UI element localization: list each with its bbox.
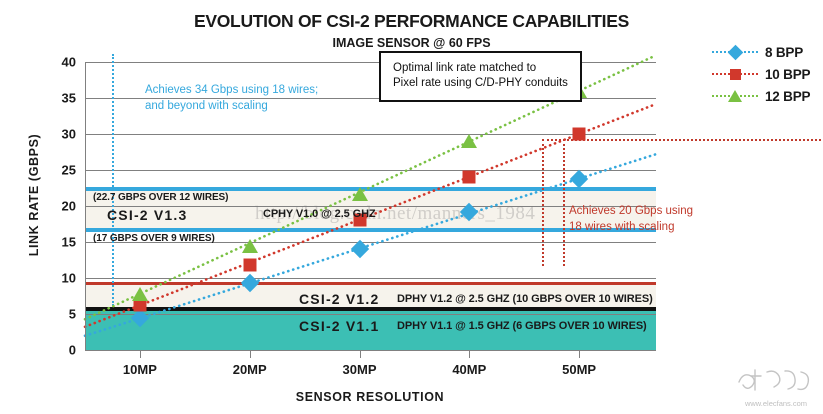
legend-item-8bpp[interactable]: 8 BPP: [712, 41, 810, 63]
legend-label-12bpp: 12 BPP: [765, 89, 810, 104]
x-tick-label-10MP: 10MP: [123, 362, 157, 377]
x-axis-title: SENSOR RESOLUTION: [85, 390, 655, 404]
legend-label-8bpp: 8 BPP: [765, 45, 803, 60]
legend-line-8bpp: [712, 46, 758, 58]
x-tick-label-40MP: 40MP: [452, 362, 486, 377]
legend-label-10bpp: 10 BPP: [765, 67, 810, 82]
annotation-callout: Optimal link rate matched to Pixel rate …: [379, 51, 582, 102]
y-tick-label-20: 20: [62, 199, 76, 214]
y-axis-title: LINK RATE (GBPS): [27, 95, 41, 295]
watermark-logo-text: www.elecfans.com: [733, 399, 819, 408]
x-tick-label-20MP: 20MP: [233, 362, 267, 377]
legend-line-12bpp: [712, 90, 758, 102]
legend-item-10bpp[interactable]: 10 BPP: [712, 63, 810, 85]
legend-line-10bpp: [712, 68, 758, 80]
data-point-10-bpp-50MP[interactable]: [573, 128, 586, 141]
y-tick-label-40: 40: [62, 55, 76, 70]
y-tick-label-5: 5: [69, 307, 76, 322]
annotation-left-line1: Achieves 34 Gbps using 18 wires;: [145, 82, 318, 98]
data-point-12-bpp-30MP[interactable]: [352, 187, 368, 201]
y-tick-label-15: 15: [62, 235, 76, 250]
band-v13-spec: CPHY V1.0 @ 2.5 GHZ: [263, 208, 376, 220]
x-tick-label-50MP: 50MP: [562, 362, 596, 377]
series-line-8-bpp: [85, 154, 656, 336]
y-tick-label-35: 35: [62, 91, 76, 106]
y-tick-label-10: 10: [62, 271, 76, 286]
data-point-10-bpp-40MP[interactable]: [463, 171, 476, 184]
y-tick-label-25: 25: [62, 163, 76, 178]
annotation-right: Achieves 20 Gbps using 18 wires with sca…: [569, 203, 693, 235]
annotation-right-line1: Achieves 20 Gbps using: [569, 203, 693, 219]
triangle-marker-icon: [728, 90, 742, 102]
x-tick-label-30MP: 30MP: [343, 362, 377, 377]
plot-area: 0510152025303540 http://blog.csdn.net/ma…: [85, 62, 656, 350]
data-point-12-bpp-10MP[interactable]: [132, 287, 148, 301]
band-v11-spec: DPHY V1.1 @ 1.5 GHZ (6 GBPS OVER 10 WIRE…: [397, 320, 647, 332]
chart-subtitle: IMAGE SENSOR @ 60 FPS: [0, 36, 823, 50]
callout-line2: Pixel rate using C/D-PHY conduits: [393, 76, 568, 91]
x-tick-mark-50MP: [579, 350, 580, 358]
band-v12-spec: DPHY V1.2 @ 2.5 GHZ (10 GBPS OVER 10 WIR…: [397, 293, 653, 305]
x-tick-mark-30MP: [360, 350, 361, 358]
y-axis-line: [85, 62, 86, 350]
band-v13-name: CSI-2 V1.3: [107, 207, 187, 223]
annotation-left-line2: and beyond with scaling: [145, 98, 318, 114]
data-point-12-bpp-20MP[interactable]: [242, 239, 258, 253]
data-point-10-bpp-20MP[interactable]: [243, 259, 256, 272]
band-v11-name: CSI-2 V1.1: [299, 318, 379, 334]
x-tick-mark-10MP: [140, 350, 141, 358]
band-v13-note-lower: (17 GBPS OVER 9 WIRES): [93, 233, 215, 244]
annotation-right-line2: 18 wires with scaling: [569, 219, 693, 235]
band-v12-name: CSI-2 V1.2: [299, 291, 379, 307]
annotation-left: Achieves 34 Gbps using 18 wires; and bey…: [145, 82, 318, 114]
y-tick-label-30: 30: [62, 127, 76, 142]
x-tick-mark-40MP: [469, 350, 470, 358]
callout-line1: Optimal link rate matched to: [393, 61, 568, 76]
diamond-marker-icon: [727, 44, 743, 60]
y-tick-label-0: 0: [69, 343, 76, 358]
x-tick-mark-20MP: [250, 350, 251, 358]
chart-title: EVOLUTION OF CSI-2 PERFORMANCE CAPABILIT…: [0, 11, 823, 32]
square-marker-icon: [730, 69, 741, 80]
watermark-logo: www.elecfans.com: [733, 360, 819, 410]
data-point-12-bpp-40MP[interactable]: [461, 134, 477, 148]
band-v13-note-upper: (22.7 GBPS OVER 12 WIRES): [93, 192, 228, 203]
legend-item-12bpp[interactable]: 12 BPP: [712, 85, 810, 107]
chart-root: EVOLUTION OF CSI-2 PERFORMANCE CAPABILIT…: [0, 0, 823, 414]
chart-legend: 8 BPP 10 BPP 12 BPP: [712, 41, 810, 107]
gridline-0: [85, 350, 656, 351]
